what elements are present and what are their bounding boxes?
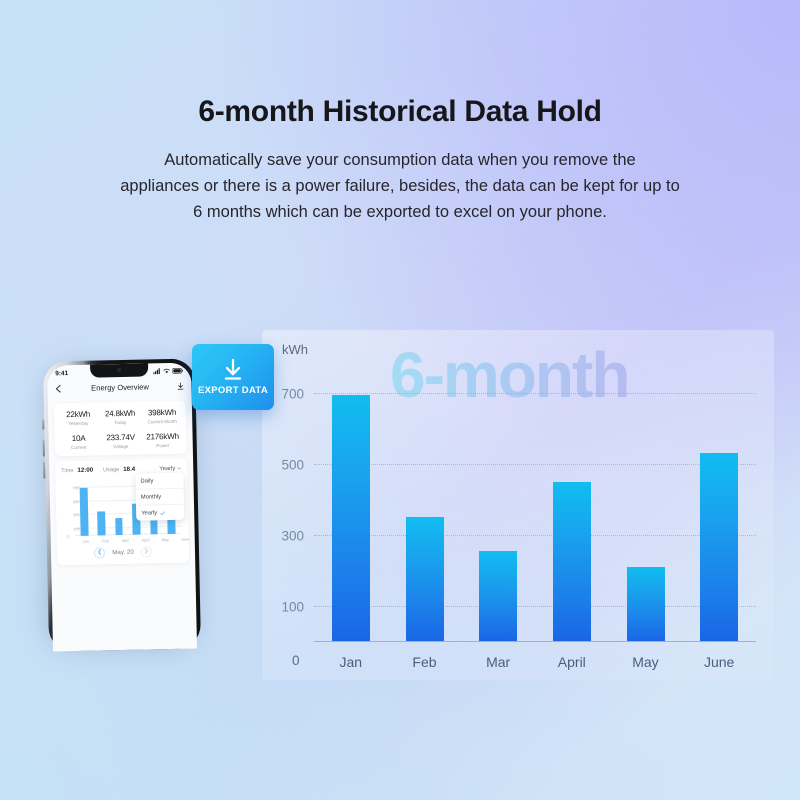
mini-bar[interactable] [97,511,105,535]
usage-value: 18.4 [123,466,135,473]
energy-stat-label: Yesterday [57,420,99,426]
mini-bar-slot [109,483,128,535]
energy-stat: 398kWhCurrent Month [141,408,183,425]
chart-unit-label: kWh [282,342,308,357]
description-line: Automatically save your consumption data… [70,147,730,173]
export-data-button[interactable]: EXPORT DATA [192,344,274,410]
mini-chart-zero-label: 0 [67,534,69,539]
period-option-label: Daily [140,478,153,484]
period-option-label: Monthly [141,494,161,500]
energy-stat-value: 2176kWh [141,432,183,442]
chart-y-tick-label: 100 [281,599,304,614]
chevron-down-icon [177,467,181,470]
energy-stat: 22kWhYesterday [57,409,99,426]
energy-stat-label: Power [142,443,184,449]
energy-stats-grid: 22kWhYesterday24.8kWhToday398kWhCurrent … [54,401,187,457]
phone-volume-up-button[interactable] [43,440,45,457]
app-nav-bar: Energy Overview [47,377,191,398]
phone-volume-down-button[interactable] [43,462,45,479]
time-value: 12:00 [77,467,93,474]
chart-y-tick-label: 300 [281,528,304,543]
chart-x-tick-label: June [682,654,756,670]
promo-page: 6-month Historical Data Hold Automatical… [0,0,800,800]
energy-stat-label: Voltage [100,444,142,450]
chart-bars [314,372,756,641]
energy-stat-label: Current Month [141,419,183,425]
description-line: 6 months which can be exported to excel … [70,199,730,225]
app-screen-title: Energy Overview [63,381,176,392]
usage-label: Usage [103,467,119,473]
phone-screen: 9:41 [47,363,197,652]
energy-stat-value: 22kWh [57,409,99,419]
export-data-label: EXPORT DATA [198,385,268,396]
chart-zero-label: 0 [292,653,300,668]
period-option-monthly[interactable]: Monthly [136,489,184,506]
chart-y-tick-label: 500 [281,458,304,473]
energy-stat: 24.8kWhToday [99,409,141,426]
chart-x-axis [314,641,756,642]
chart-bar-slot [609,372,683,641]
chart-bar-slot [535,372,609,641]
header: 6-month Historical Data Hold Automatical… [0,95,800,225]
page-description: Automatically save your consumption data… [70,147,730,225]
chart-x-tick-label: April [535,654,609,670]
chart-bar[interactable] [406,517,444,641]
period-select-value: Yearly [159,465,175,471]
chart-bar[interactable] [332,395,370,641]
chevron-right-icon[interactable]: ❯ [141,546,152,557]
period-option-yearly[interactable]: Yearly [136,505,184,521]
chart-bar[interactable] [553,482,591,641]
wifi-icon [163,368,170,374]
status-bar: 9:41 [47,363,191,380]
mini-x-tick-label: Jan [76,539,96,544]
mini-bar-slot [75,484,94,536]
back-arrow-icon[interactable] [54,384,63,393]
energy-stat: 2176kWhPower [141,432,183,449]
usage-chart-card: Time 12:00 Usage 18.4 Yearly DailyMonthl… [55,459,189,566]
chart-x-tick-label: Jan [314,654,388,670]
mini-bar[interactable] [150,520,158,535]
description-line: appliances or there is a power failure, … [70,173,730,199]
status-bar-time: 9:41 [55,370,68,377]
energy-stat-label: Current [58,444,100,450]
energy-stat-value: 233.74V [99,433,141,443]
phone-mute-button[interactable] [42,420,44,430]
chart-bar-slot [314,372,388,641]
chart-bar[interactable] [627,567,665,641]
date-pager: ❮ May. 20 ❯ [63,546,183,562]
energy-stat-value: 10A [58,433,100,443]
period-dropdown-menu[interactable]: DailyMonthlyYearly [135,473,184,521]
chevron-left-icon[interactable]: ❮ [94,547,105,558]
chart-x-tick-label: Mar [461,654,535,670]
mini-x-tick-label: June [175,536,195,541]
chart-bar-slot [461,372,535,641]
mini-x-tick-label: Mar [116,538,136,543]
mini-bar[interactable] [115,518,123,536]
status-bar-icons [153,368,183,375]
period-option-daily[interactable]: Daily [135,473,183,490]
chart-y-tick-label: 700 [281,387,304,402]
chart-x-tick-label: May [609,654,683,670]
chart-bar-slot [388,372,462,641]
mini-bar[interactable] [80,488,89,536]
time-label: Time [61,468,73,474]
mini-bar-slot [92,483,111,535]
chart-bar[interactable] [700,453,738,641]
chart-bar[interactable] [479,551,517,641]
mini-x-tick-label: Feb [96,538,116,543]
period-option-label: Yearly [141,510,157,516]
battery-icon [172,368,183,374]
energy-stat-value: 398kWh [141,408,183,418]
period-select[interactable]: Yearly [159,465,181,471]
energy-bar-chart: kWh 6-month 100300500700 0 JanFebMarApri… [262,330,774,680]
chart-x-tick-label: Feb [388,654,462,670]
pager-date-label: May. 20 [112,549,134,556]
download-icon [220,358,246,382]
page-title: 6-month Historical Data Hold [0,95,800,129]
phone-body: 9:41 [43,358,201,651]
energy-stat-value: 24.8kWh [99,409,141,419]
chart-plot-area: 100300500700 0 JanFebMarAprilMayJune [314,372,756,642]
mini-x-tick-label: April [135,537,155,542]
mini-x-tick-label: May [155,537,175,542]
energy-stat-label: Today [99,420,141,426]
signal-icon [153,368,160,374]
energy-stat: 10ACurrent [58,433,100,450]
check-icon [160,511,165,515]
chart-bar-slot [682,372,756,641]
download-icon[interactable] [176,381,184,390]
energy-stat: 233.74VVoltage [99,433,141,450]
